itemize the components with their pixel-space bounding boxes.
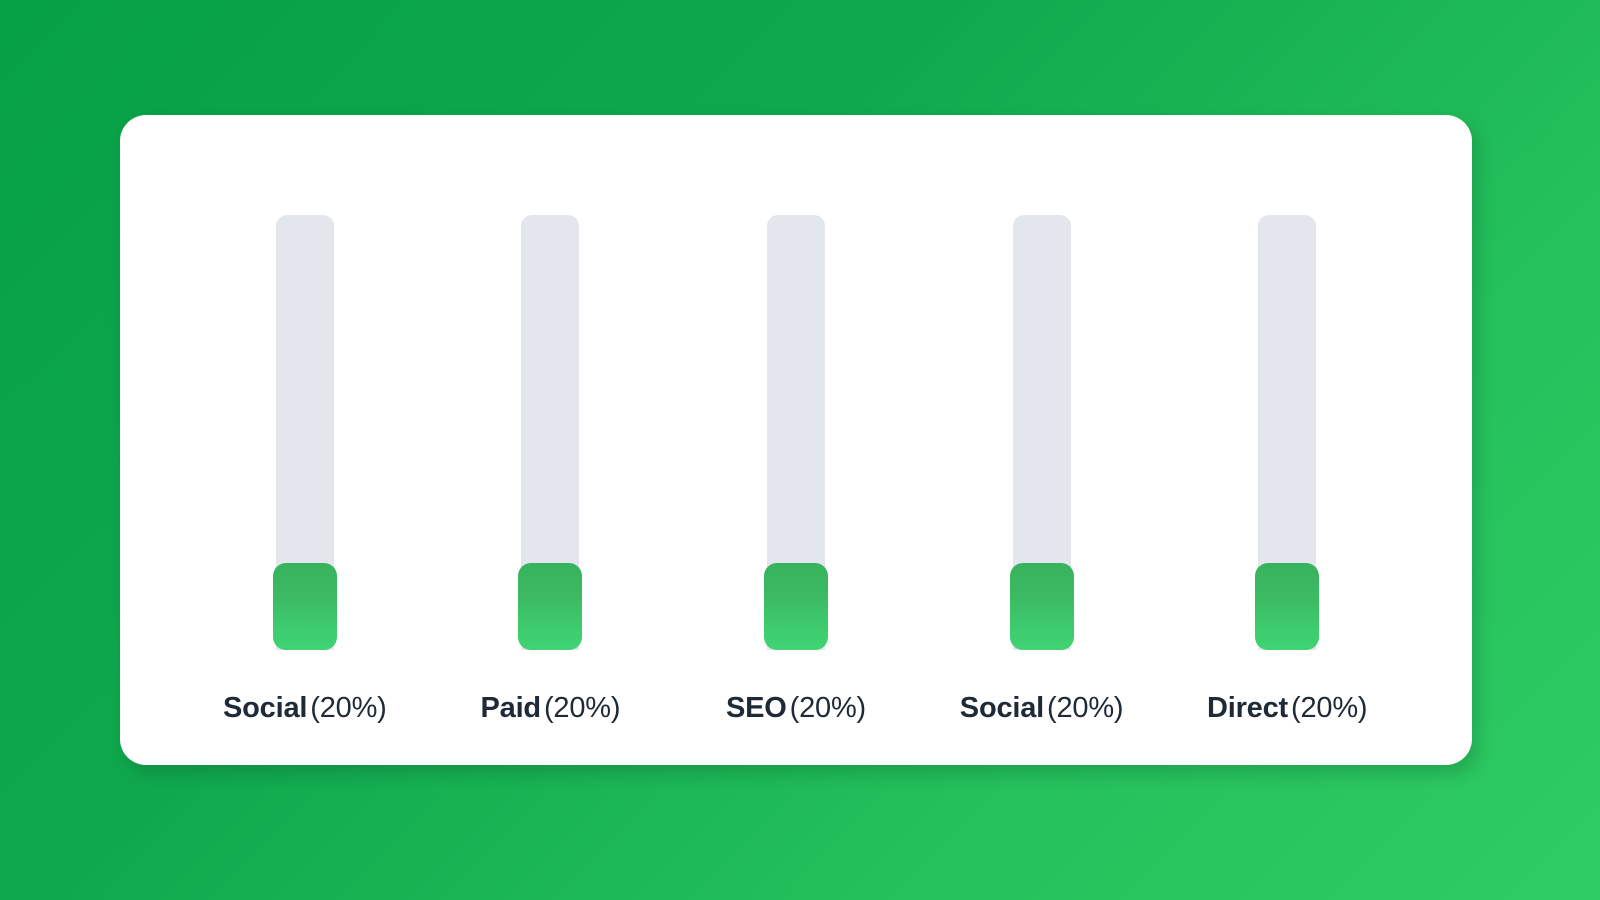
bar-fill <box>273 563 337 650</box>
bar-label-percent: (20%) <box>1047 692 1123 724</box>
bar-group[interactable]: Social(20%) <box>182 190 428 723</box>
bar-label: Social(20%) <box>223 694 387 723</box>
bar-label-percent: (20%) <box>1291 692 1367 724</box>
bar-label-name: Paid <box>481 692 541 724</box>
bar-fill <box>518 563 582 650</box>
bar-track[interactable] <box>1258 215 1316 650</box>
bar-label: Direct(20%) <box>1207 694 1367 723</box>
bar-fill <box>1255 563 1319 650</box>
bar-label-percent: (20%) <box>310 692 386 724</box>
app-background: Social(20%) Paid(20%) SEO(20%) <box>0 0 1600 900</box>
bar-chart: Social(20%) Paid(20%) SEO(20%) <box>120 115 1472 765</box>
bar-label-name: Social <box>223 692 307 724</box>
bar-group[interactable]: SEO(20%) <box>673 190 919 723</box>
bar-label-name: SEO <box>726 692 787 724</box>
bar-label-percent: (20%) <box>790 692 866 724</box>
bar-label-percent: (20%) <box>544 692 620 724</box>
bar-track[interactable] <box>767 215 825 650</box>
bar-group[interactable]: Paid(20%) <box>428 190 674 723</box>
chart-card: Social(20%) Paid(20%) SEO(20%) <box>120 115 1472 765</box>
bar-label-name: Social <box>960 692 1044 724</box>
bar-label: Paid(20%) <box>481 694 621 723</box>
bar-group[interactable]: Social(20%) <box>919 190 1165 723</box>
bar-track[interactable] <box>521 215 579 650</box>
bar-label-name: Direct <box>1207 692 1288 724</box>
bar-group[interactable]: Direct(20%) <box>1164 190 1410 723</box>
bar-track[interactable] <box>276 215 334 650</box>
bar-label: SEO(20%) <box>726 694 866 723</box>
bar-fill <box>1010 563 1074 650</box>
bar-track[interactable] <box>1013 215 1071 650</box>
bar-label: Social(20%) <box>960 694 1124 723</box>
bar-fill <box>764 563 828 650</box>
